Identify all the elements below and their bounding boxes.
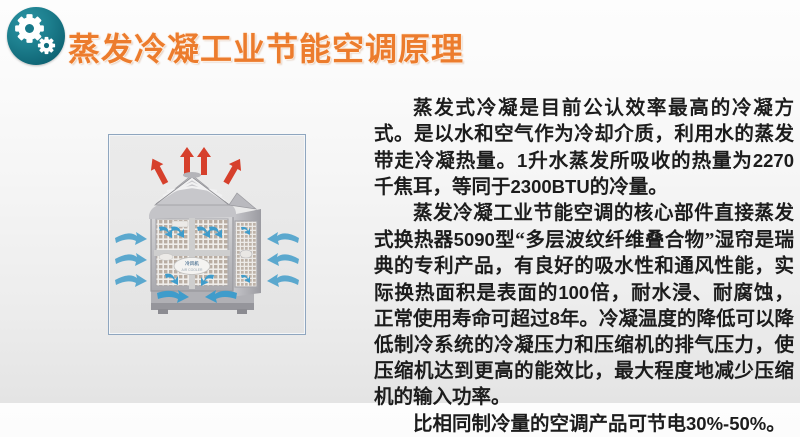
value-100x: 100 bbox=[558, 282, 589, 303]
svg-text:冷风机: 冷风机 bbox=[185, 260, 199, 267]
body-text: 蒸发式冷凝是目前公认效率最高的冷凝方式。是以水和空气作为冷却介质，利用水的蒸发带… bbox=[374, 96, 794, 437]
value-5090: 5090 bbox=[454, 229, 495, 250]
value-power-saving: 30%-50% bbox=[686, 413, 766, 434]
figure-frame: 冷风机 AIR COOLER bbox=[108, 134, 306, 335]
value-2270: 2270 bbox=[753, 150, 794, 171]
svg-text:AIR COOLER: AIR COOLER bbox=[182, 268, 203, 272]
intake-arrows-left bbox=[115, 232, 147, 287]
paragraph-3: 比相同制冷量的空调产品可节电30%-50%。 bbox=[374, 411, 794, 437]
paragraph-1: 蒸发式冷凝是目前公认效率最高的冷凝方式。是以水和空气作为冷却介质，利用水的蒸发带… bbox=[374, 96, 794, 201]
value-8-years: 8 bbox=[550, 308, 560, 329]
slide-canvas: 蒸发冷凝工业节能空调原理 bbox=[0, 0, 800, 403]
value-2300btu: 2300BTU bbox=[511, 176, 590, 197]
value-1-liter: 1 bbox=[517, 150, 527, 171]
page-title: 蒸发冷凝工业节能空调原理 bbox=[68, 24, 464, 70]
paragraph-2: 蒸发冷凝工业节能空调的核心部件直接蒸发式换热器5090型“多层波纹纤维叠合物”湿… bbox=[374, 201, 794, 410]
slide-header: 蒸发冷凝工业节能空调原理 bbox=[0, 0, 800, 82]
roof-louvers bbox=[155, 172, 256, 209]
gear-icon bbox=[7, 7, 65, 65]
intake-arrows-right bbox=[267, 232, 299, 287]
evaporative-condenser-unit-diagram: 冷风机 AIR COOLER bbox=[109, 135, 305, 334]
